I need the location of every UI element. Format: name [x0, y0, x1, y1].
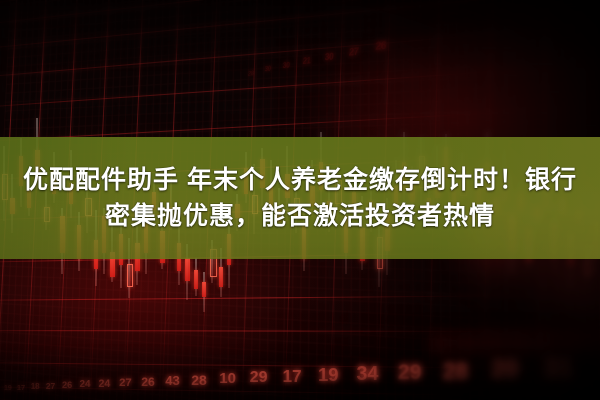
headline-band: 优配配件助手 年末个人养老金缴存倒计时！银行 密集抛优惠，能否激活投资者热情 [0, 137, 600, 259]
headline-line-2: 密集抛优惠，能否激活投资者热情 [105, 201, 495, 232]
headline-line-1: 优配配件助手 年末个人养老金缴存倒计时！银行 [23, 165, 577, 196]
banner-image: 28303021302726 1917182726242427264328102… [0, 0, 600, 400]
